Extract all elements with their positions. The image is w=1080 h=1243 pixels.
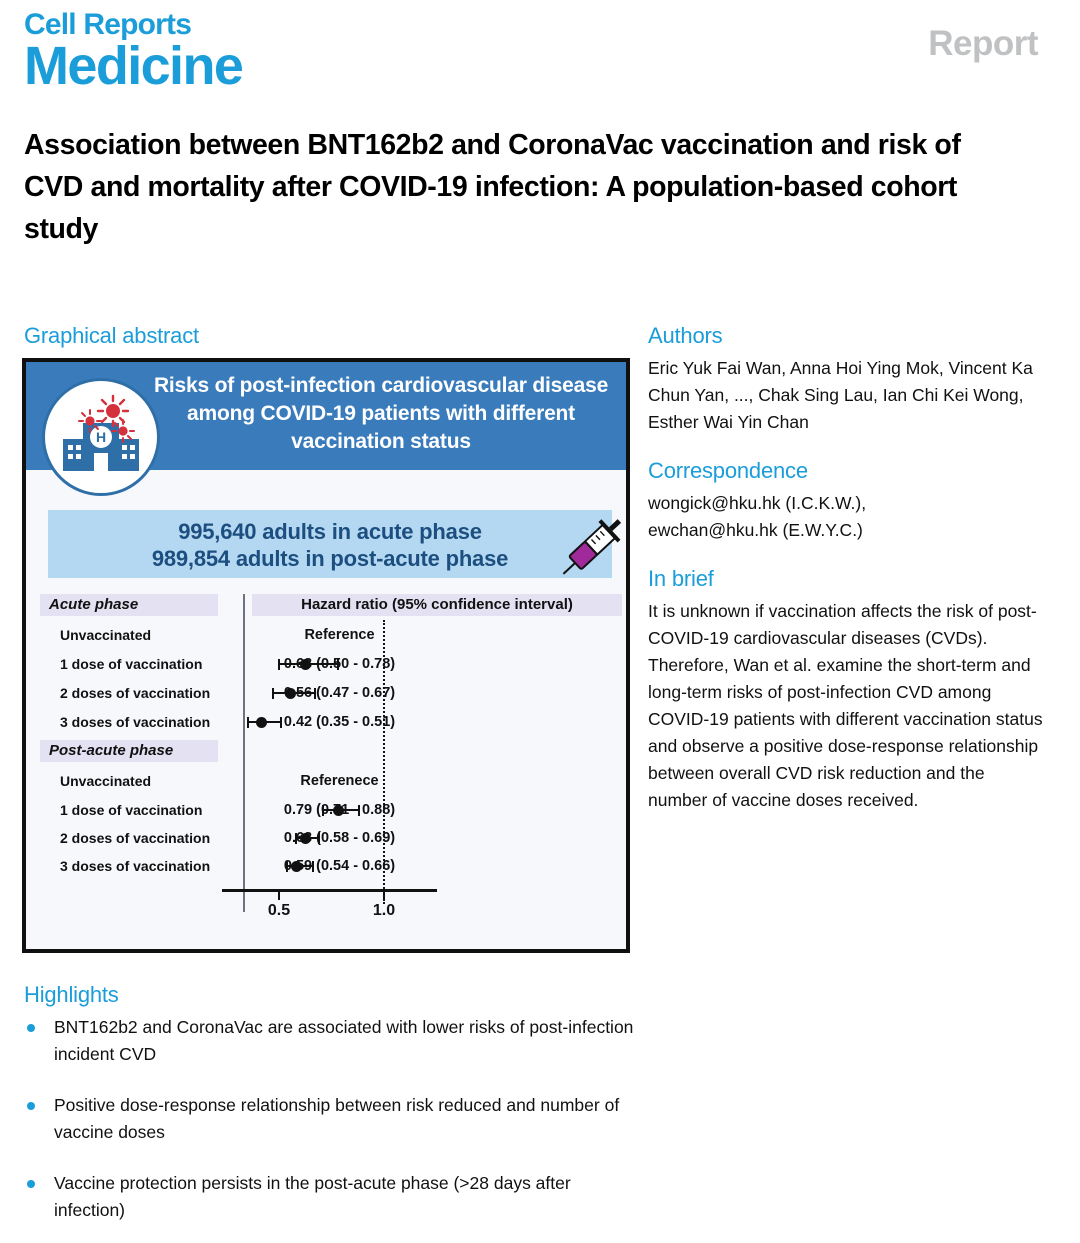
article-type-label: Report — [928, 24, 1038, 64]
bullet-icon — [27, 1024, 35, 1032]
figure-banner-title: Risks of post-infection cardiovascular d… — [146, 372, 616, 456]
correspondence-email-1[interactable]: wongick@hku.hk (I.C.K.W.), — [648, 493, 866, 513]
x-axis-tick-label: 1.0 — [359, 902, 409, 920]
highlight-text: Vaccine protection persists in the post-… — [54, 1173, 571, 1220]
bullet-icon — [27, 1102, 35, 1110]
list-item: Positive dose-response relationship betw… — [24, 1092, 640, 1146]
highlights-heading: Highlights — [24, 982, 119, 1008]
point-estimate-marker — [300, 833, 311, 844]
stat-post-acute-phase: 989,854 adults in post-acute phase — [48, 545, 612, 572]
syringe-icon — [546, 500, 630, 600]
journal-first-page: Cell Reports Medicine Report Association… — [0, 0, 1080, 1243]
correspondence-heading: Correspondence — [648, 458, 1048, 484]
authors-list: Eric Yuk Fai Wan, Anna Hoi Ying Mok, Vin… — [648, 355, 1048, 436]
in-brief-heading: In brief — [648, 566, 1048, 592]
x-axis-tick — [278, 892, 280, 900]
stat-acute-phase: 995,640 adults in acute phase — [48, 518, 612, 545]
x-axis-line — [222, 889, 437, 892]
confidence-interval-cap — [247, 717, 249, 728]
graphical-abstract-heading: Graphical abstract — [24, 323, 199, 349]
svg-text:H: H — [96, 429, 106, 445]
point-estimate-marker — [285, 688, 296, 699]
point-estimate-marker — [300, 659, 311, 670]
confidence-interval-cap — [295, 833, 297, 844]
masthead-line2: Medicine — [24, 38, 242, 94]
point-estimate-marker — [256, 717, 267, 728]
list-item: Vaccine protection persists in the post-… — [24, 1170, 640, 1224]
x-axis-tick — [383, 892, 385, 900]
authors-heading: Authors — [648, 323, 1048, 349]
correspondence-emails: wongick@hku.hk (I.C.K.W.), ewchan@hku.hk… — [648, 490, 1048, 544]
confidence-interval-cap — [312, 861, 314, 872]
highlights-list: BNT162b2 and CoronaVac are associated wi… — [24, 1014, 640, 1243]
highlight-text: BNT162b2 and CoronaVac are associated wi… — [54, 1017, 633, 1064]
x-axis-tick-label: 0.5 — [254, 902, 304, 920]
list-item: BNT162b2 and CoronaVac are associated wi… — [24, 1014, 640, 1068]
confidence-interval-cap — [272, 688, 274, 699]
graphical-abstract-figure: Risks of post-infection cardiovascular d… — [22, 358, 630, 953]
confidence-interval-cap — [337, 659, 339, 670]
confidence-interval-cap — [318, 833, 320, 844]
confidence-interval-cap — [314, 688, 316, 699]
in-brief-text: It is unknown if vaccination affects the… — [648, 598, 1048, 814]
null-reference-line — [383, 620, 385, 904]
cohort-stats-band: 995,640 adults in acute phase 989,854 ad… — [48, 510, 612, 578]
point-estimate-marker — [291, 861, 302, 872]
hospital-virus-icon: H — [42, 378, 160, 496]
journal-masthead: Cell Reports Medicine — [24, 8, 242, 94]
highlight-text: Positive dose-response relationship betw… — [54, 1095, 619, 1142]
forest-plot-canvas: 0.51.0 — [40, 594, 620, 934]
page-title: Association between BNT162b2 and CoronaV… — [24, 124, 984, 250]
point-estimate-marker — [333, 805, 344, 816]
metadata-column: Authors Eric Yuk Fai Wan, Anna Hoi Ying … — [648, 323, 1048, 836]
confidence-interval-cap — [278, 659, 280, 670]
correspondence-email-2[interactable]: ewchan@hku.hk (E.W.Y.C.) — [648, 520, 863, 540]
confidence-interval-cap — [322, 805, 324, 816]
confidence-interval-cap — [358, 805, 360, 816]
confidence-interval-cap — [286, 861, 288, 872]
bullet-icon — [27, 1180, 35, 1188]
confidence-interval-cap — [280, 717, 282, 728]
